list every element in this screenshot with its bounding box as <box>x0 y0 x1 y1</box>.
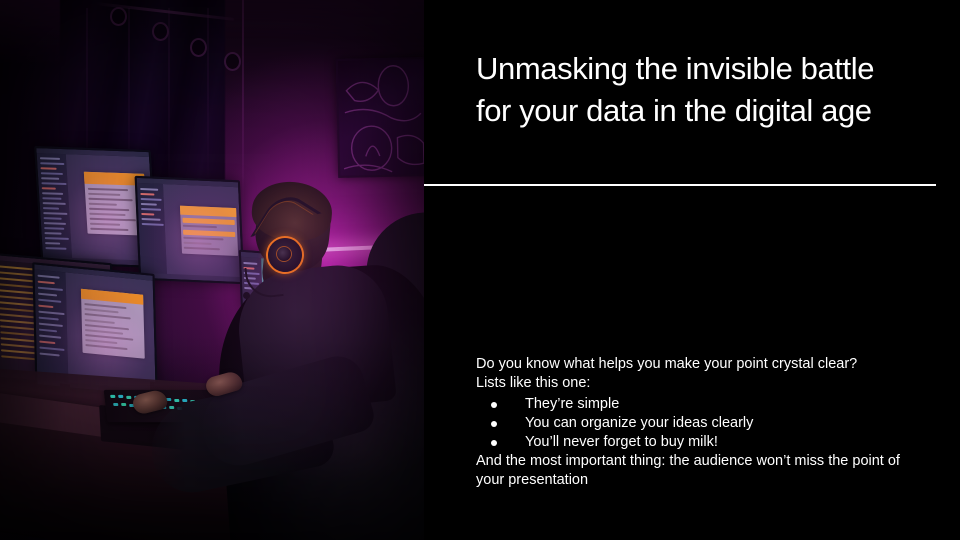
curtain-grommet <box>110 7 127 26</box>
content-panel: Unmasking the invisible battle for your … <box>424 0 960 540</box>
bullet-dot-icon <box>491 440 497 446</box>
bullet-dot-icon <box>491 402 497 408</box>
framed-poster <box>336 57 424 178</box>
headset-mic-tip <box>243 292 250 299</box>
headset-earcup-inner <box>276 246 292 262</box>
title-divider <box>424 184 936 186</box>
hero-photo <box>0 0 424 540</box>
list-item-label: You’ll never forget to buy milk! <box>525 434 718 450</box>
bullet-list: They’re simple You can organize your ide… <box>476 395 916 452</box>
list-item-label: They’re simple <box>525 396 619 412</box>
bullet-dot-icon <box>491 421 497 427</box>
presentation-slide: Unmasking the invisible battle for your … <box>0 0 960 540</box>
intro-paragraph: Do you know what helps you make your poi… <box>476 355 888 393</box>
list-item-label: You can organize your ideas clearly <box>525 415 753 431</box>
curtain-grommet <box>224 52 241 71</box>
list-item: You can organize your ideas clearly <box>476 414 916 433</box>
list-item: You’ll never forget to buy milk! <box>476 433 916 452</box>
monitor-top-right <box>135 176 245 284</box>
monitor-bezel <box>135 176 245 284</box>
poster-line-art <box>338 59 424 176</box>
outro-paragraph: And the most important thing: the audien… <box>476 452 902 490</box>
body-text-block: Do you know what helps you make your poi… <box>476 355 916 490</box>
list-item: They’re simple <box>476 395 916 414</box>
slide-title: Unmasking the invisible battle for your … <box>476 48 896 132</box>
curtain-grommet <box>152 22 169 41</box>
curtain-grommet <box>190 38 207 57</box>
